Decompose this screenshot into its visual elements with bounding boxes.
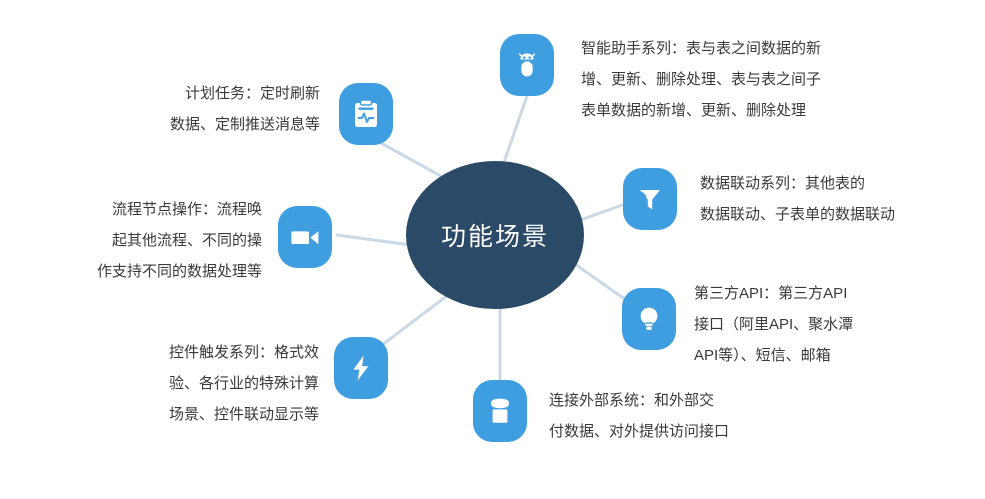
connector-third-party-api xyxy=(572,262,626,300)
database-icon xyxy=(487,396,513,426)
lightbulb-icon xyxy=(636,304,662,334)
node-flow-node-action[interactable] xyxy=(278,206,332,268)
label-flow-node-action: 流程节点操作：流程唤 起其他流程、不同的操 作支持不同的数据处理等 xyxy=(55,194,262,287)
label-data-linkage: 数据联动系列：其他表的 数据联动、子表单的数据联动 xyxy=(700,168,985,230)
connector-smart-assistant xyxy=(502,96,527,168)
connector-data-linkage xyxy=(575,204,625,222)
center-hub-label: 功能场景 xyxy=(441,217,549,253)
label-smart-assistant: 智能助手系列：表与表之间数据的新 增、更新、删除处理、表与表之间子 表单数据的新… xyxy=(581,33,911,126)
center-hub: 功能场景 xyxy=(406,161,584,309)
funnel-icon xyxy=(636,185,664,213)
label-third-party-api: 第三方API：第三方API 接口（阿里API、聚水潭 API等）、短信、邮箱 xyxy=(694,278,934,371)
robot-icon xyxy=(512,50,542,80)
node-smart-assistant[interactable] xyxy=(500,34,554,96)
clipboard-pulse-icon xyxy=(352,99,380,129)
label-widget-trigger: 控件触发系列：格式效 验、各行业的特殊计算 场景、控件联动显示等 xyxy=(112,337,319,430)
label-scheduled-task: 计划任务：定时刷新 数据、定制推送消息等 xyxy=(120,78,320,140)
connector-flow-node-action xyxy=(337,235,411,245)
connector-widget-trigger xyxy=(378,292,452,348)
lightning-bolt-icon xyxy=(348,353,374,383)
node-third-party-api[interactable] xyxy=(622,288,676,350)
video-camera-icon xyxy=(289,226,321,248)
node-external-system[interactable] xyxy=(473,380,527,442)
node-widget-trigger[interactable] xyxy=(334,337,388,399)
node-data-linkage[interactable] xyxy=(623,168,677,230)
node-scheduled-task[interactable] xyxy=(339,83,393,145)
diagram-canvas: 功能场景 计划任务：定时刷新 数据、定制推送消息等 智能助手系列：表与 xyxy=(0,0,985,499)
label-external-system: 连接外部系统：和外部交 付数据、对外提供访问接口 xyxy=(549,385,799,447)
